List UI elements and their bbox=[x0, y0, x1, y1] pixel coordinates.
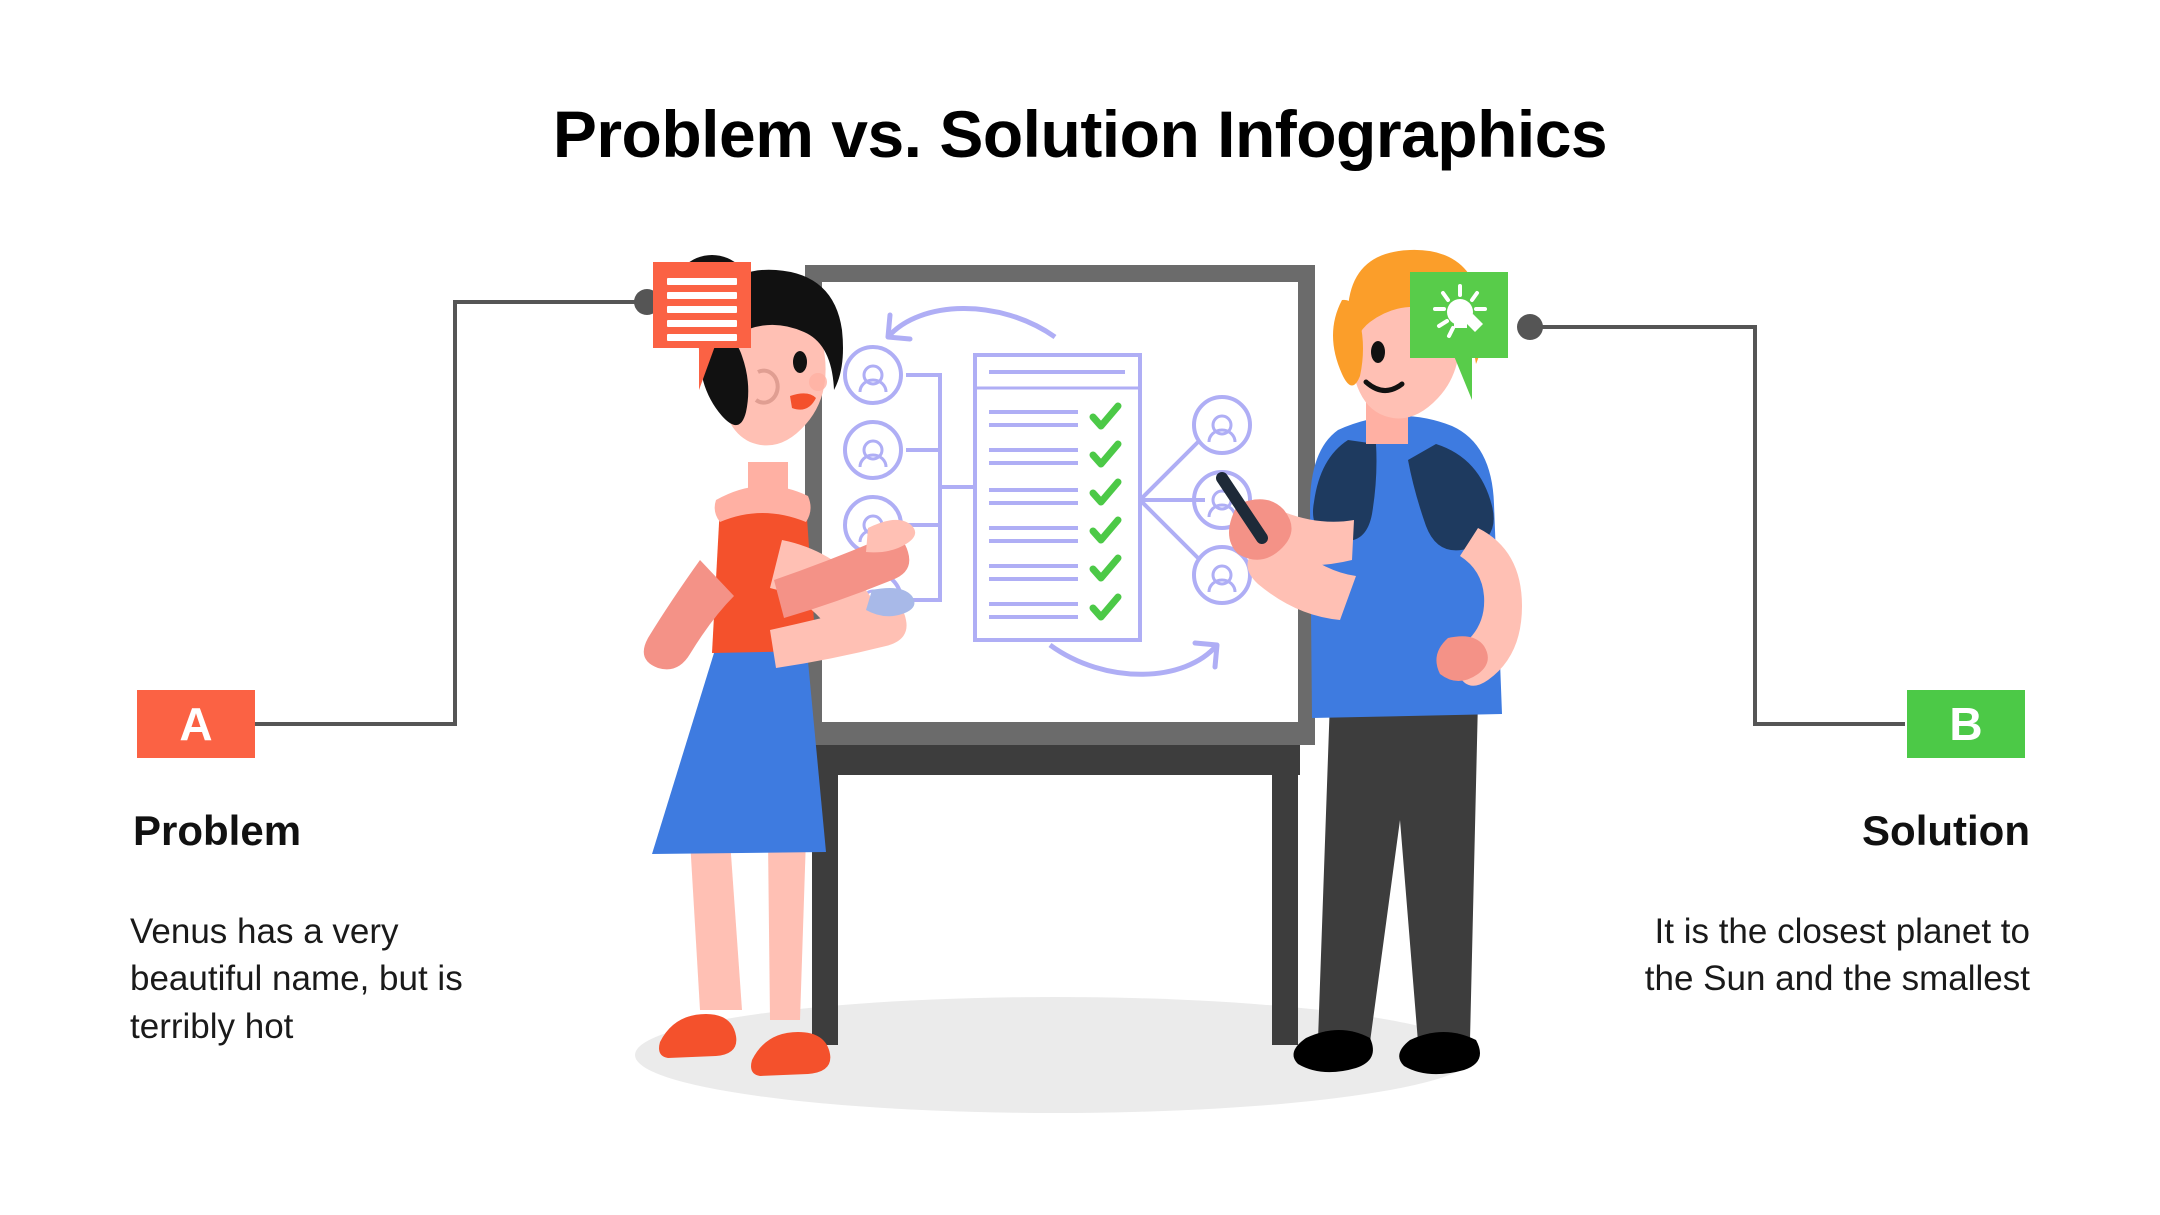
speech-bubble-tail bbox=[1434, 356, 1472, 400]
speech-bubble-problem[interactable] bbox=[653, 262, 751, 348]
body-solution: It is the closest planet to the Sun and … bbox=[1640, 908, 2030, 1003]
connector-line-right bbox=[1535, 327, 1905, 724]
badge-solution[interactable]: B bbox=[1907, 690, 2025, 758]
connector-dot-right bbox=[1517, 314, 1543, 340]
speech-bubble-solution[interactable] bbox=[1410, 272, 1508, 358]
connector-line-left bbox=[255, 302, 640, 724]
infographic-canvas: Problem vs. Solution Infographics bbox=[0, 0, 2160, 1215]
speech-bubble-tail bbox=[699, 346, 737, 390]
text-lines-icon bbox=[667, 278, 737, 348]
lightbulb-idea-icon bbox=[1427, 282, 1493, 348]
body-problem: Venus has a very beautiful name, but is … bbox=[130, 908, 520, 1050]
heading-solution: Solution bbox=[1860, 805, 2030, 856]
heading-problem: Problem bbox=[133, 805, 303, 856]
badge-problem[interactable]: A bbox=[137, 690, 255, 758]
